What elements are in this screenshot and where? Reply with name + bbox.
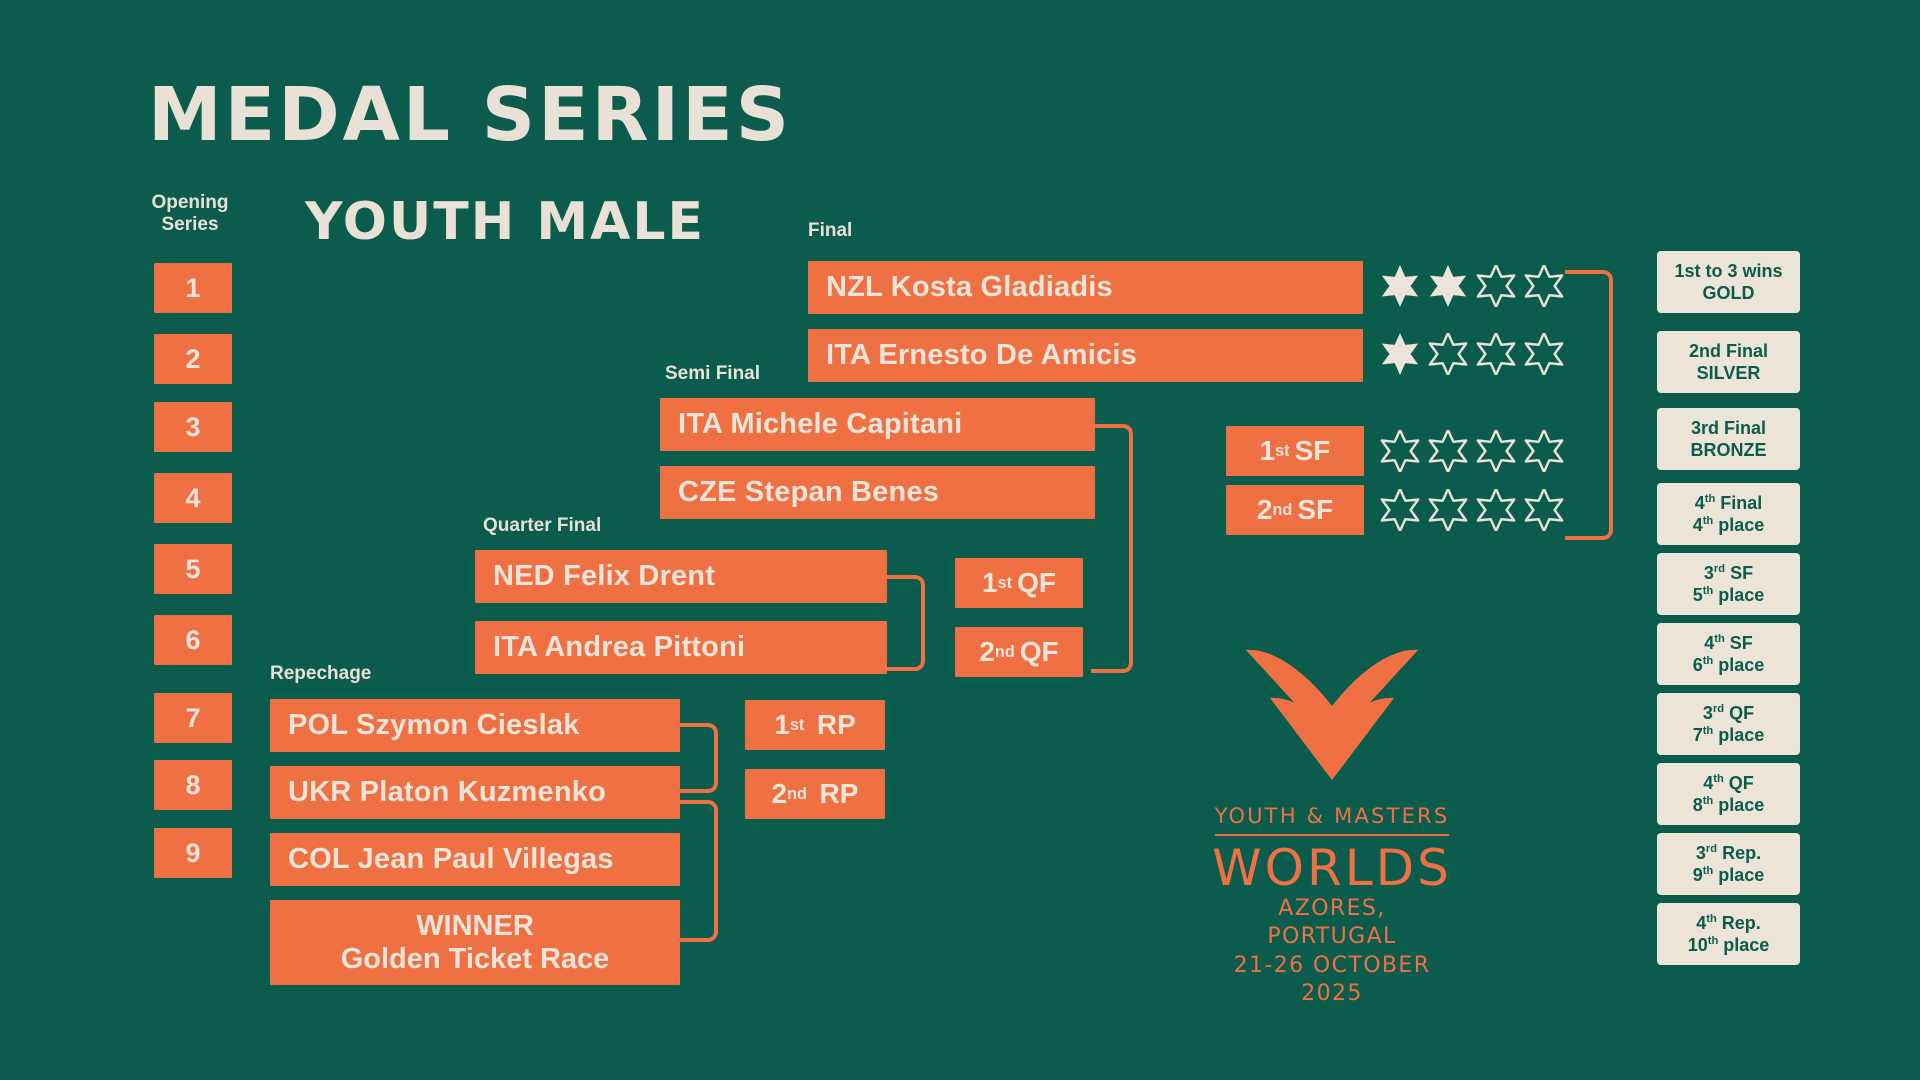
slot-2nd-rp-suffix: nd (787, 785, 807, 804)
star-filled-icon (1378, 333, 1422, 375)
semifinal-athlete-1[interactable]: ITA Michele Capitani (660, 398, 1095, 451)
slot-2nd-rp-round: RP (820, 778, 859, 810)
slot-1st-rp[interactable]: 1stRP (745, 700, 885, 750)
connector-semifinal (1091, 424, 1133, 673)
medal-series-bracket-poster: MEDAL SERIES YOUTH MALE Opening Series F… (0, 0, 1920, 1080)
legend-item-7: 3rd QF7th place (1657, 693, 1800, 755)
final-athlete-1[interactable]: NZL Kosta Gladiadis (808, 261, 1363, 314)
star-filled-icon (1426, 265, 1470, 307)
star-rating-2nd-sf (1378, 489, 1566, 531)
logo-tagline: YOUTH & MASTERS (1215, 804, 1450, 836)
slot-1st-rp-ordinal: 1 (774, 709, 790, 741)
legend-item-1-line2: GOLD (1703, 282, 1755, 305)
legend-item-4-line2: 4th place (1693, 514, 1765, 537)
legend-item-6-line1: 4th SF (1704, 632, 1753, 655)
legend-item-4-line1: 4th Final (1695, 492, 1763, 515)
slot-1st-qf-suffix: st (998, 574, 1012, 593)
slot-1st-sf[interactable]: 1stSF (1226, 426, 1364, 476)
seed-box-1[interactable]: 1 (154, 263, 232, 313)
logo-dates: 21-26 OCTOBER 2025 (1212, 952, 1452, 1009)
legend-item-8-line2: 8th place (1693, 794, 1765, 817)
legend-item-5-line1: 3rd SF (1704, 562, 1753, 585)
round-label-semi-final: Semi Final (665, 363, 760, 385)
logo-title: WORLDS (1212, 842, 1452, 895)
slot-2nd-qf[interactable]: 2ndQF (955, 627, 1083, 677)
legend-item-1: 1st to 3 winsGOLD (1657, 251, 1800, 313)
legend-item-9: 3rd Rep.9th place (1657, 833, 1800, 895)
star-empty-icon (1426, 489, 1470, 531)
legend-item-2-line1: 2nd Final (1689, 340, 1768, 363)
repechage-athlete-1[interactable]: POL Szymon Cieslak (270, 699, 680, 752)
slot-1st-sf-ordinal: 1 (1260, 435, 1276, 467)
connector-repechage-bottom (676, 800, 718, 942)
legend-item-3: 3rd FinalBRONZE (1657, 408, 1800, 470)
slot-1st-qf-ordinal: 1 (982, 567, 998, 599)
repechage-athlete-3[interactable]: COL Jean Paul Villegas (270, 833, 680, 886)
slot-2nd-qf-round: QF (1020, 636, 1059, 668)
legend-item-5: 3rd SF5th place (1657, 553, 1800, 615)
chevron-wings-logo-icon (1242, 640, 1422, 790)
slot-2nd-qf-suffix: nd (995, 643, 1015, 662)
legend-item-10: 4th Rep.10th place (1657, 903, 1800, 965)
round-label-opening-series: Opening Series (140, 192, 240, 236)
round-label-repechage: Repechage (270, 663, 371, 685)
star-empty-icon (1378, 489, 1422, 531)
seed-box-9[interactable]: 9 (154, 828, 232, 878)
seed-box-7[interactable]: 7 (154, 693, 232, 743)
seed-box-4[interactable]: 4 (154, 473, 232, 523)
connector-repechage-top (676, 723, 718, 793)
slot-1st-rp-round: RP (817, 709, 856, 741)
slot-2nd-sf-round: SF (1297, 494, 1333, 526)
legend-item-3-line1: 3rd Final (1691, 417, 1766, 440)
legend-item-7-line1: 3rd QF (1703, 702, 1754, 725)
seed-box-8[interactable]: 8 (154, 760, 232, 810)
slot-2nd-qf-ordinal: 2 (979, 636, 995, 668)
slot-2nd-rp-ordinal: 2 (772, 778, 788, 810)
legend-item-3-line2: BRONZE (1691, 439, 1767, 462)
quarterfinal-athlete-1[interactable]: NED Felix Drent (475, 550, 887, 603)
legend-item-8-line1: 4th QF (1703, 772, 1754, 795)
slot-2nd-sf[interactable]: 2ndSF (1226, 485, 1364, 535)
star-filled-icon (1378, 265, 1422, 307)
legend-item-10-line1: 4th Rep. (1696, 912, 1761, 935)
star-empty-icon (1474, 489, 1518, 531)
star-empty-icon (1426, 333, 1470, 375)
event-logo: YOUTH & MASTERS WORLDS AZORES, PORTUGAL … (1212, 640, 1452, 1009)
slot-1st-sf-suffix: st (1275, 442, 1289, 461)
page-subtitle: YOUTH MALE (305, 196, 705, 248)
repechage-winner-box[interactable]: WINNER Golden Ticket Race (270, 900, 680, 985)
star-empty-icon (1426, 430, 1470, 472)
star-empty-icon (1522, 265, 1566, 307)
star-empty-icon (1522, 333, 1566, 375)
star-empty-icon (1474, 265, 1518, 307)
slot-1st-qf-round: QF (1017, 567, 1056, 599)
seed-box-6[interactable]: 6 (154, 615, 232, 665)
seed-box-2[interactable]: 2 (154, 334, 232, 384)
legend-item-6: 4th SF6th place (1657, 623, 1800, 685)
star-empty-icon (1378, 430, 1422, 472)
star-empty-icon (1474, 430, 1518, 472)
slot-2nd-sf-suffix: nd (1272, 501, 1292, 520)
seed-box-5[interactable]: 5 (154, 544, 232, 594)
legend-item-6-line2: 6th place (1693, 654, 1765, 677)
round-label-final: Final (808, 220, 852, 242)
legend-item-8: 4th QF8th place (1657, 763, 1800, 825)
slot-1st-rp-suffix: st (790, 716, 804, 735)
quarterfinal-athlete-2[interactable]: ITA Andrea Pittoni (475, 621, 887, 674)
slot-1st-sf-round: SF (1295, 435, 1331, 467)
star-rating-final-athlete-1 (1378, 265, 1566, 307)
star-rating-1st-sf (1378, 430, 1566, 472)
legend-item-1-line1: 1st to 3 wins (1674, 260, 1782, 283)
slot-2nd-rp[interactable]: 2ndRP (745, 769, 885, 819)
legend-item-2-line2: SILVER (1697, 362, 1761, 385)
repechage-athlete-2[interactable]: UKR Platon Kuzmenko (270, 766, 680, 819)
legend-item-2: 2nd FinalSILVER (1657, 331, 1800, 393)
final-athlete-2[interactable]: ITA Ernesto De Amicis (808, 329, 1363, 382)
legend-item-5-line2: 5th place (1693, 584, 1765, 607)
page-title: MEDAL SERIES (148, 78, 792, 152)
slot-2nd-sf-ordinal: 2 (1257, 494, 1273, 526)
slot-1st-qf[interactable]: 1stQF (955, 558, 1083, 608)
legend-item-9-line1: 3rd Rep. (1696, 842, 1761, 865)
star-empty-icon (1474, 333, 1518, 375)
legend-item-10-line2: 10th place (1688, 934, 1770, 957)
star-empty-icon (1522, 489, 1566, 531)
connector-quarterfinal (883, 575, 925, 671)
legend-item-9-line2: 9th place (1693, 864, 1765, 887)
round-label-quarter-final: Quarter Final (483, 515, 601, 537)
legend-item-7-line2: 7th place (1693, 724, 1765, 747)
logo-location: AZORES, PORTUGAL (1212, 895, 1452, 952)
star-empty-icon (1522, 430, 1566, 472)
seed-box-3[interactable]: 3 (154, 402, 232, 452)
legend-item-4: 4th Final4th place (1657, 483, 1800, 545)
star-rating-final-athlete-2 (1378, 333, 1566, 375)
semifinal-athlete-2[interactable]: CZE Stepan Benes (660, 466, 1095, 519)
connector-final-to-legend (1565, 270, 1613, 540)
